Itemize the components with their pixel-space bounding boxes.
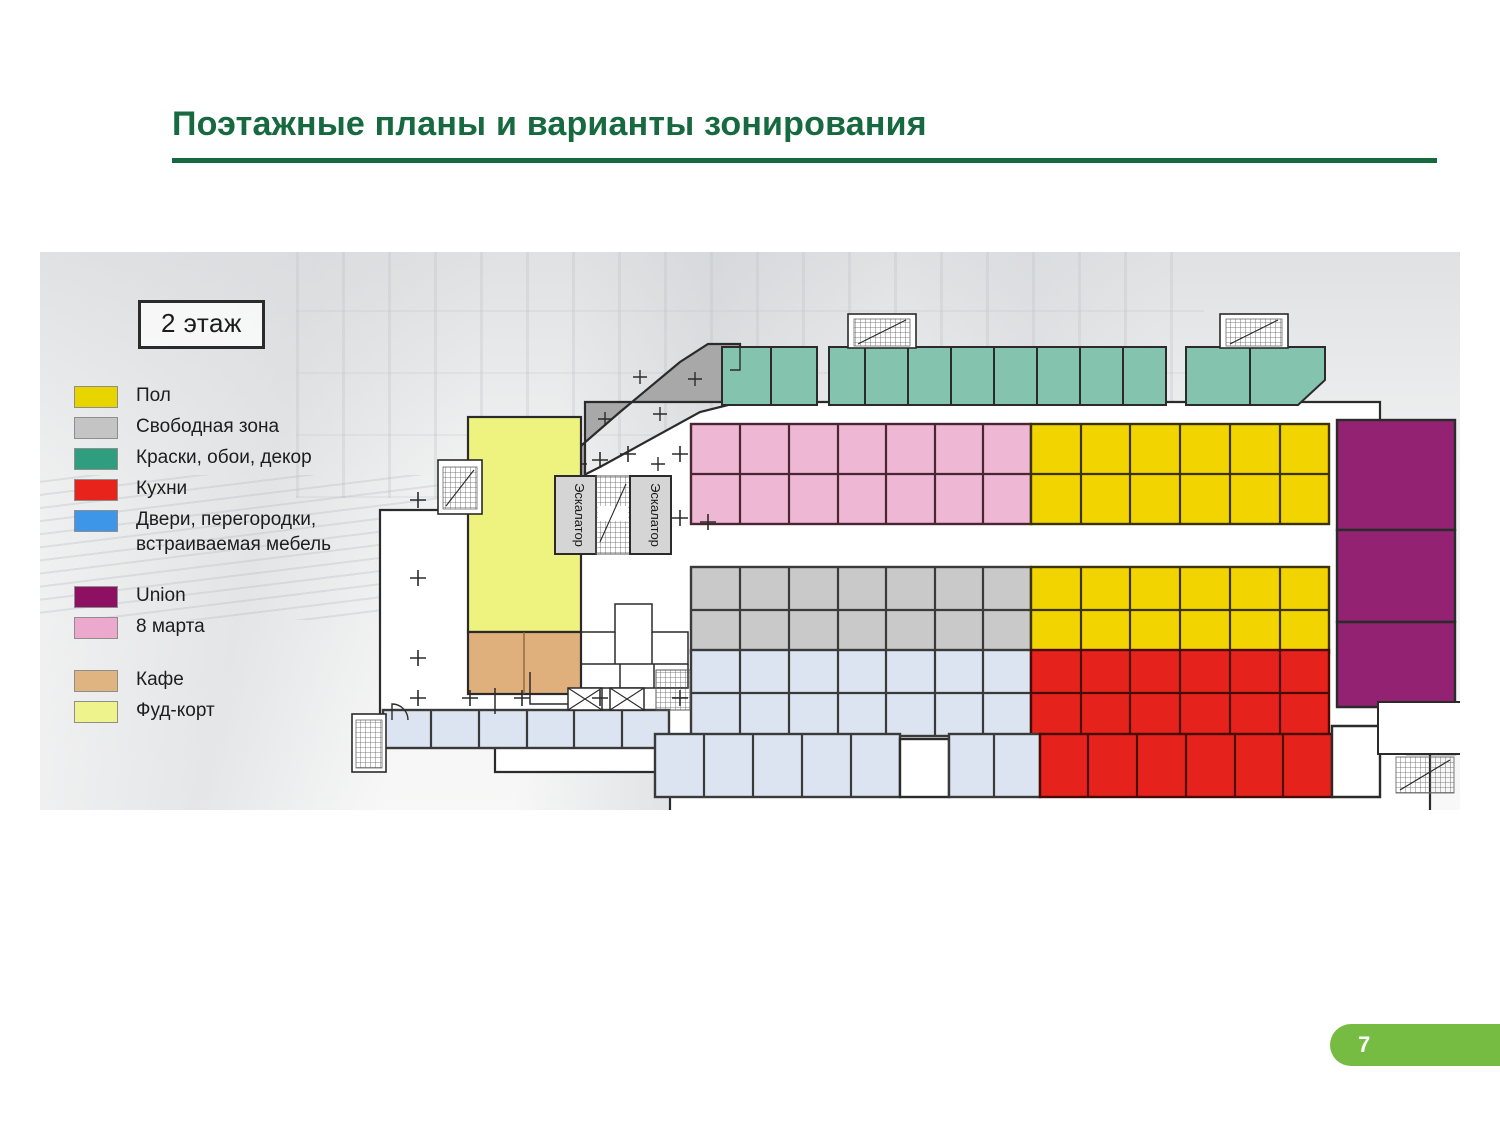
roof-stairwell-left [848,314,916,348]
corner-stairwell-bottom-left [352,714,386,772]
page-number-badge: 7 [1330,1024,1500,1066]
zone-pol-mid [1031,567,1329,653]
stairwell-mid-left [438,460,482,514]
zone-8marta-top [691,424,1031,524]
zone-bottom-left-doors-strip [383,710,669,748]
zone-bottom-row [655,726,1380,797]
zone-row-2 [691,567,1329,653]
zone-pol-top [1031,424,1329,524]
floor-plan-figure: 2 этаж Пол Свободная зона Краски, обои, … [40,252,1460,810]
page-title: Поэтажные планы и варианты зонирования [172,105,927,144]
escalator-label-1: Эскалатор [572,483,587,547]
escalator-label-2: Эскалатор [648,483,663,547]
roof-stairwell-right [1220,314,1288,348]
zone-free-row [691,567,1031,653]
zone-kitchens-row [1031,650,1329,736]
escalator-pair-center: Эскалатор Эскалатор [555,476,671,554]
zone-doors-row [691,650,1031,736]
zone-row-3 [691,650,1329,736]
zone-cafe [468,632,581,694]
title-underline-rule [172,158,1437,163]
zone-paints-decor-row [722,347,1325,405]
floor-plan-drawing: Эскалатор Эскалатор [40,252,1460,810]
zone-row-1 [691,424,1329,524]
